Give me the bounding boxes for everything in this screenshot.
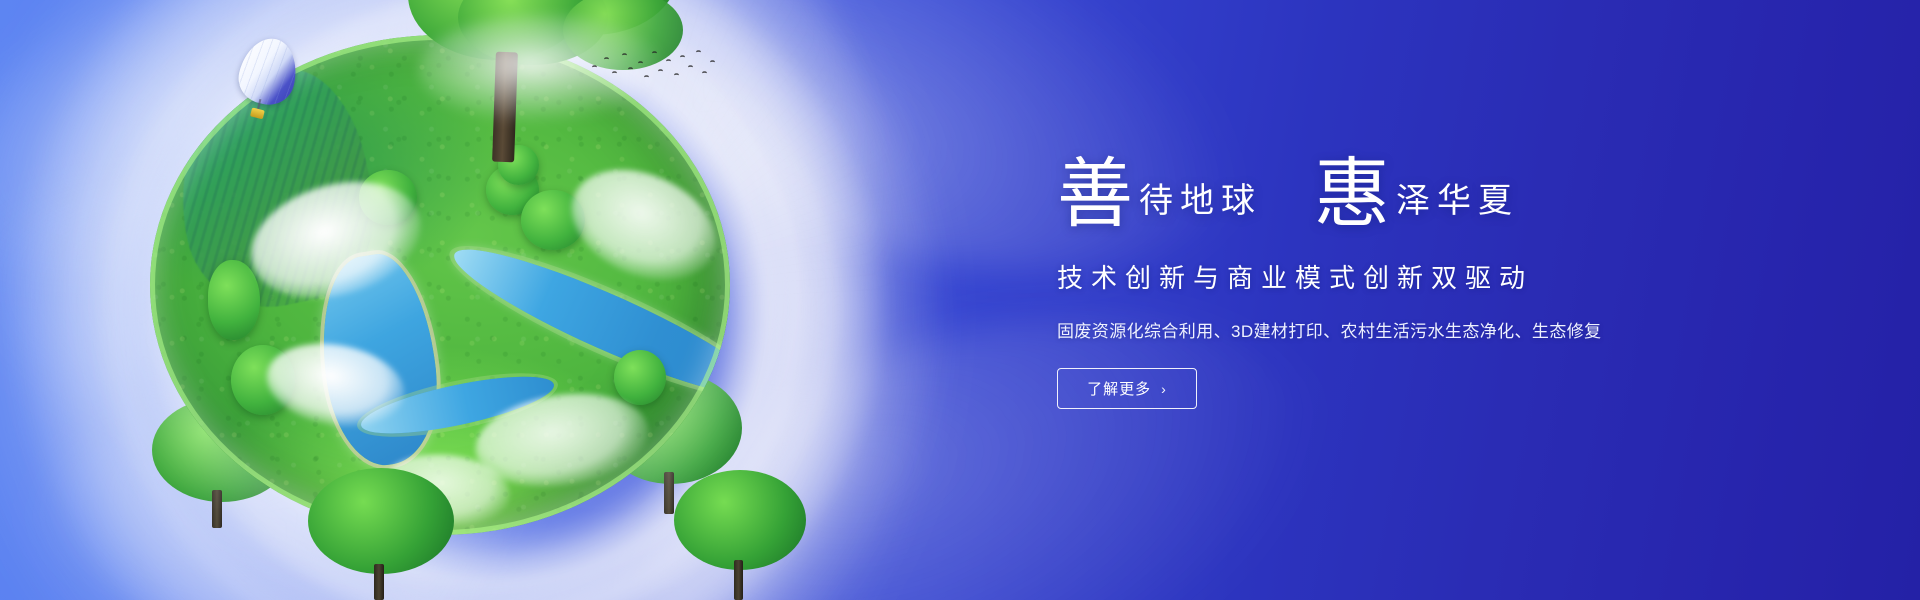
page-subtitle: 技术创新与商业模式创新双驱动 [1057, 258, 1817, 295]
page-description: 固废资源化综合利用、3D建材打印、农村生活污水生态净化、生态修复 [1057, 317, 1817, 342]
learn-more-button[interactable]: 了解更多 › [1057, 368, 1197, 409]
tree-crown [508, 0, 678, 35]
bush-icon [614, 350, 666, 405]
chevron-right-icon: › [1161, 381, 1167, 397]
page-title: 善 待地球 惠 泽华夏 [1057, 140, 1817, 232]
learn-more-label: 了解更多 [1087, 378, 1151, 399]
bush-icon [208, 260, 260, 340]
headline-phrase-1: 待地球 [1133, 173, 1262, 232]
hero-banner: 善 待地球 惠 泽华夏 技术创新与商业模式创新双驱动 固废资源化综合利用、3D建… [0, 0, 1920, 600]
headline-char-1: 善 [1057, 159, 1133, 232]
balloon-basket [250, 107, 265, 119]
bush-icon [498, 145, 539, 185]
headline-char-2: 惠 [1314, 159, 1390, 232]
headline-phrase-2: 泽华夏 [1390, 173, 1519, 232]
bird-flock-icon [588, 48, 718, 86]
hero-copy-block: 善 待地球 惠 泽华夏 技术创新与商业模式创新双驱动 固废资源化综合利用、3D建… [1057, 140, 1817, 409]
